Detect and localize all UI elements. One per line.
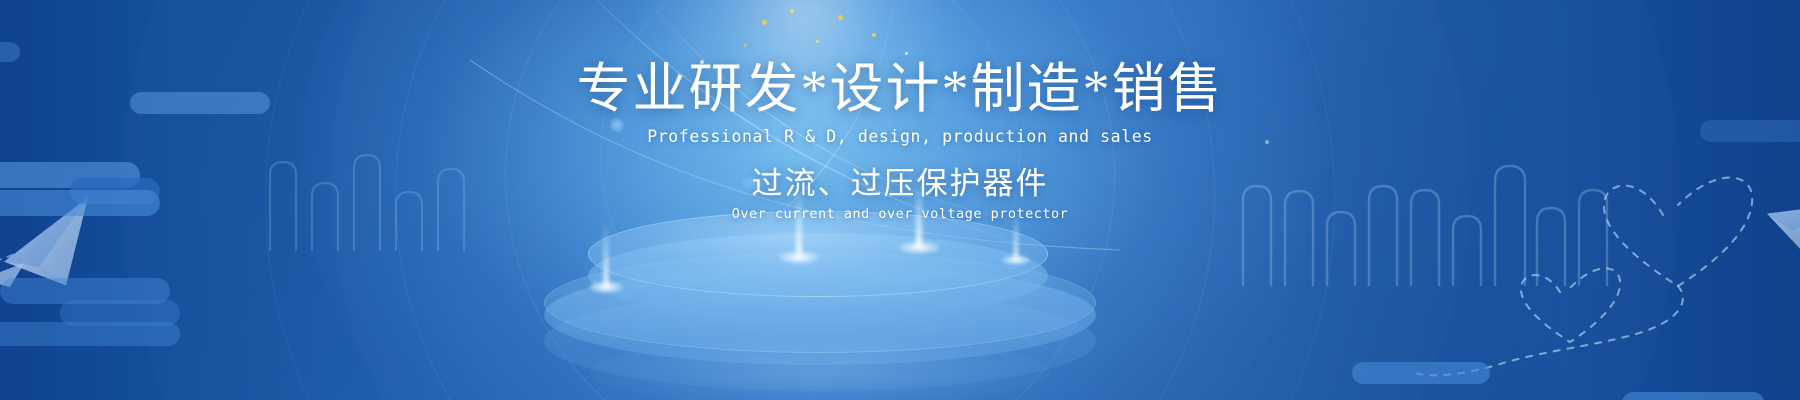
- cloud-bar-left-8: [0, 42, 20, 62]
- cloud-bar-right-3: [1700, 120, 1800, 142]
- cloud-bar-left-7: [0, 322, 180, 346]
- particle-white-5: [1265, 140, 1269, 144]
- cloud-bar-right-2: [1622, 392, 1764, 400]
- spotlight-4: [998, 211, 1034, 281]
- particle-gold-2: [790, 9, 794, 13]
- cloud-bar-left-1: [130, 92, 270, 114]
- spotlight-3: [896, 181, 942, 273]
- particle-white-2: [905, 52, 908, 55]
- spotlight-1: [586, 223, 626, 311]
- cloud-bar-right-1: [1352, 362, 1490, 384]
- particle-gold-3: [838, 15, 843, 20]
- spotlight-2: [776, 189, 822, 281]
- particle-white-1: [700, 60, 704, 64]
- podium: [530, 205, 1110, 400]
- particle-gold-5: [816, 40, 819, 43]
- cloud-bar-left-4: [0, 190, 160, 216]
- particle-white-3: [610, 118, 624, 132]
- particle-gold-6: [744, 44, 747, 47]
- hero-banner: 专业研发*设计*制造*销售 Professional R & D, design…: [0, 0, 1800, 400]
- particle-gold-1: [762, 20, 767, 25]
- particle-gold-4: [872, 33, 876, 37]
- particle-white-4: [742, 176, 764, 190]
- podium-reflection: [590, 337, 1050, 400]
